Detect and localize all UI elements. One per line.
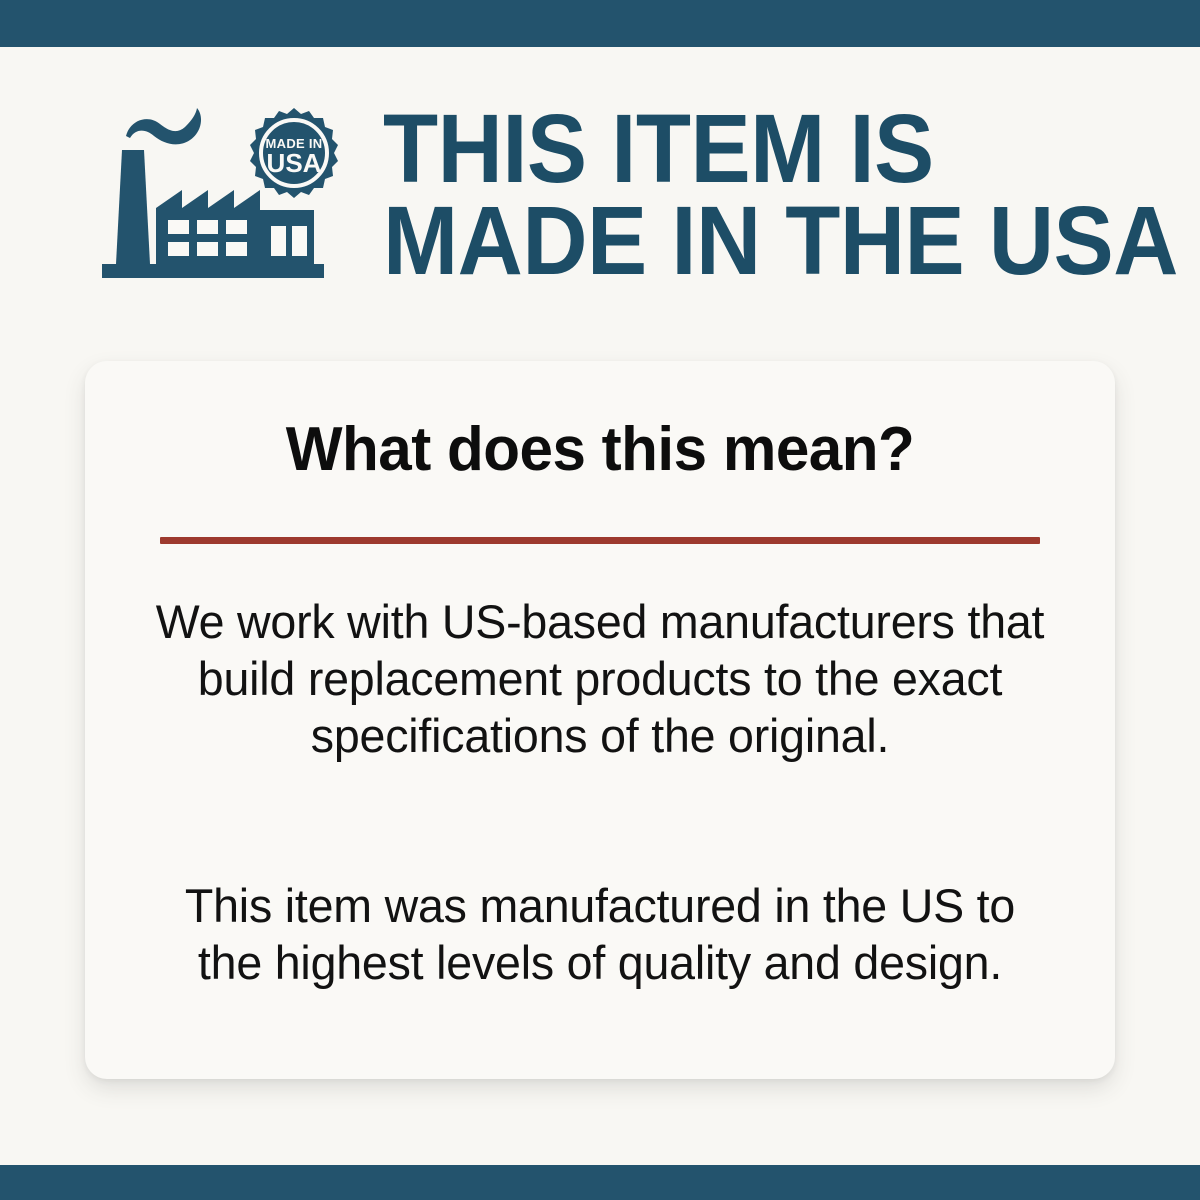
header: MADE IN USA THIS ITEM IS MADE IN THE USA: [0, 47, 1200, 297]
page-title: THIS ITEM IS MADE IN THE USA: [383, 103, 1118, 287]
headline-line-2: MADE IN THE USA: [383, 195, 1118, 287]
top-accent-bar: [0, 0, 1200, 47]
factory-icon: MADE IN USA: [100, 102, 350, 282]
card-paragraph-2: This item was manufactured in the US to …: [150, 877, 1051, 991]
card-paragraph-1: We work with US-based manufacturers that…: [150, 593, 1051, 764]
headline-line-1: THIS ITEM IS: [383, 103, 1118, 195]
title-divider: [160, 537, 1040, 544]
badge-usa-text: USA: [267, 148, 322, 178]
bottom-accent-bar: [0, 1165, 1200, 1200]
card-title: What does this mean?: [100, 419, 1099, 481]
info-card: What does this mean? We work with US-bas…: [85, 361, 1115, 1079]
